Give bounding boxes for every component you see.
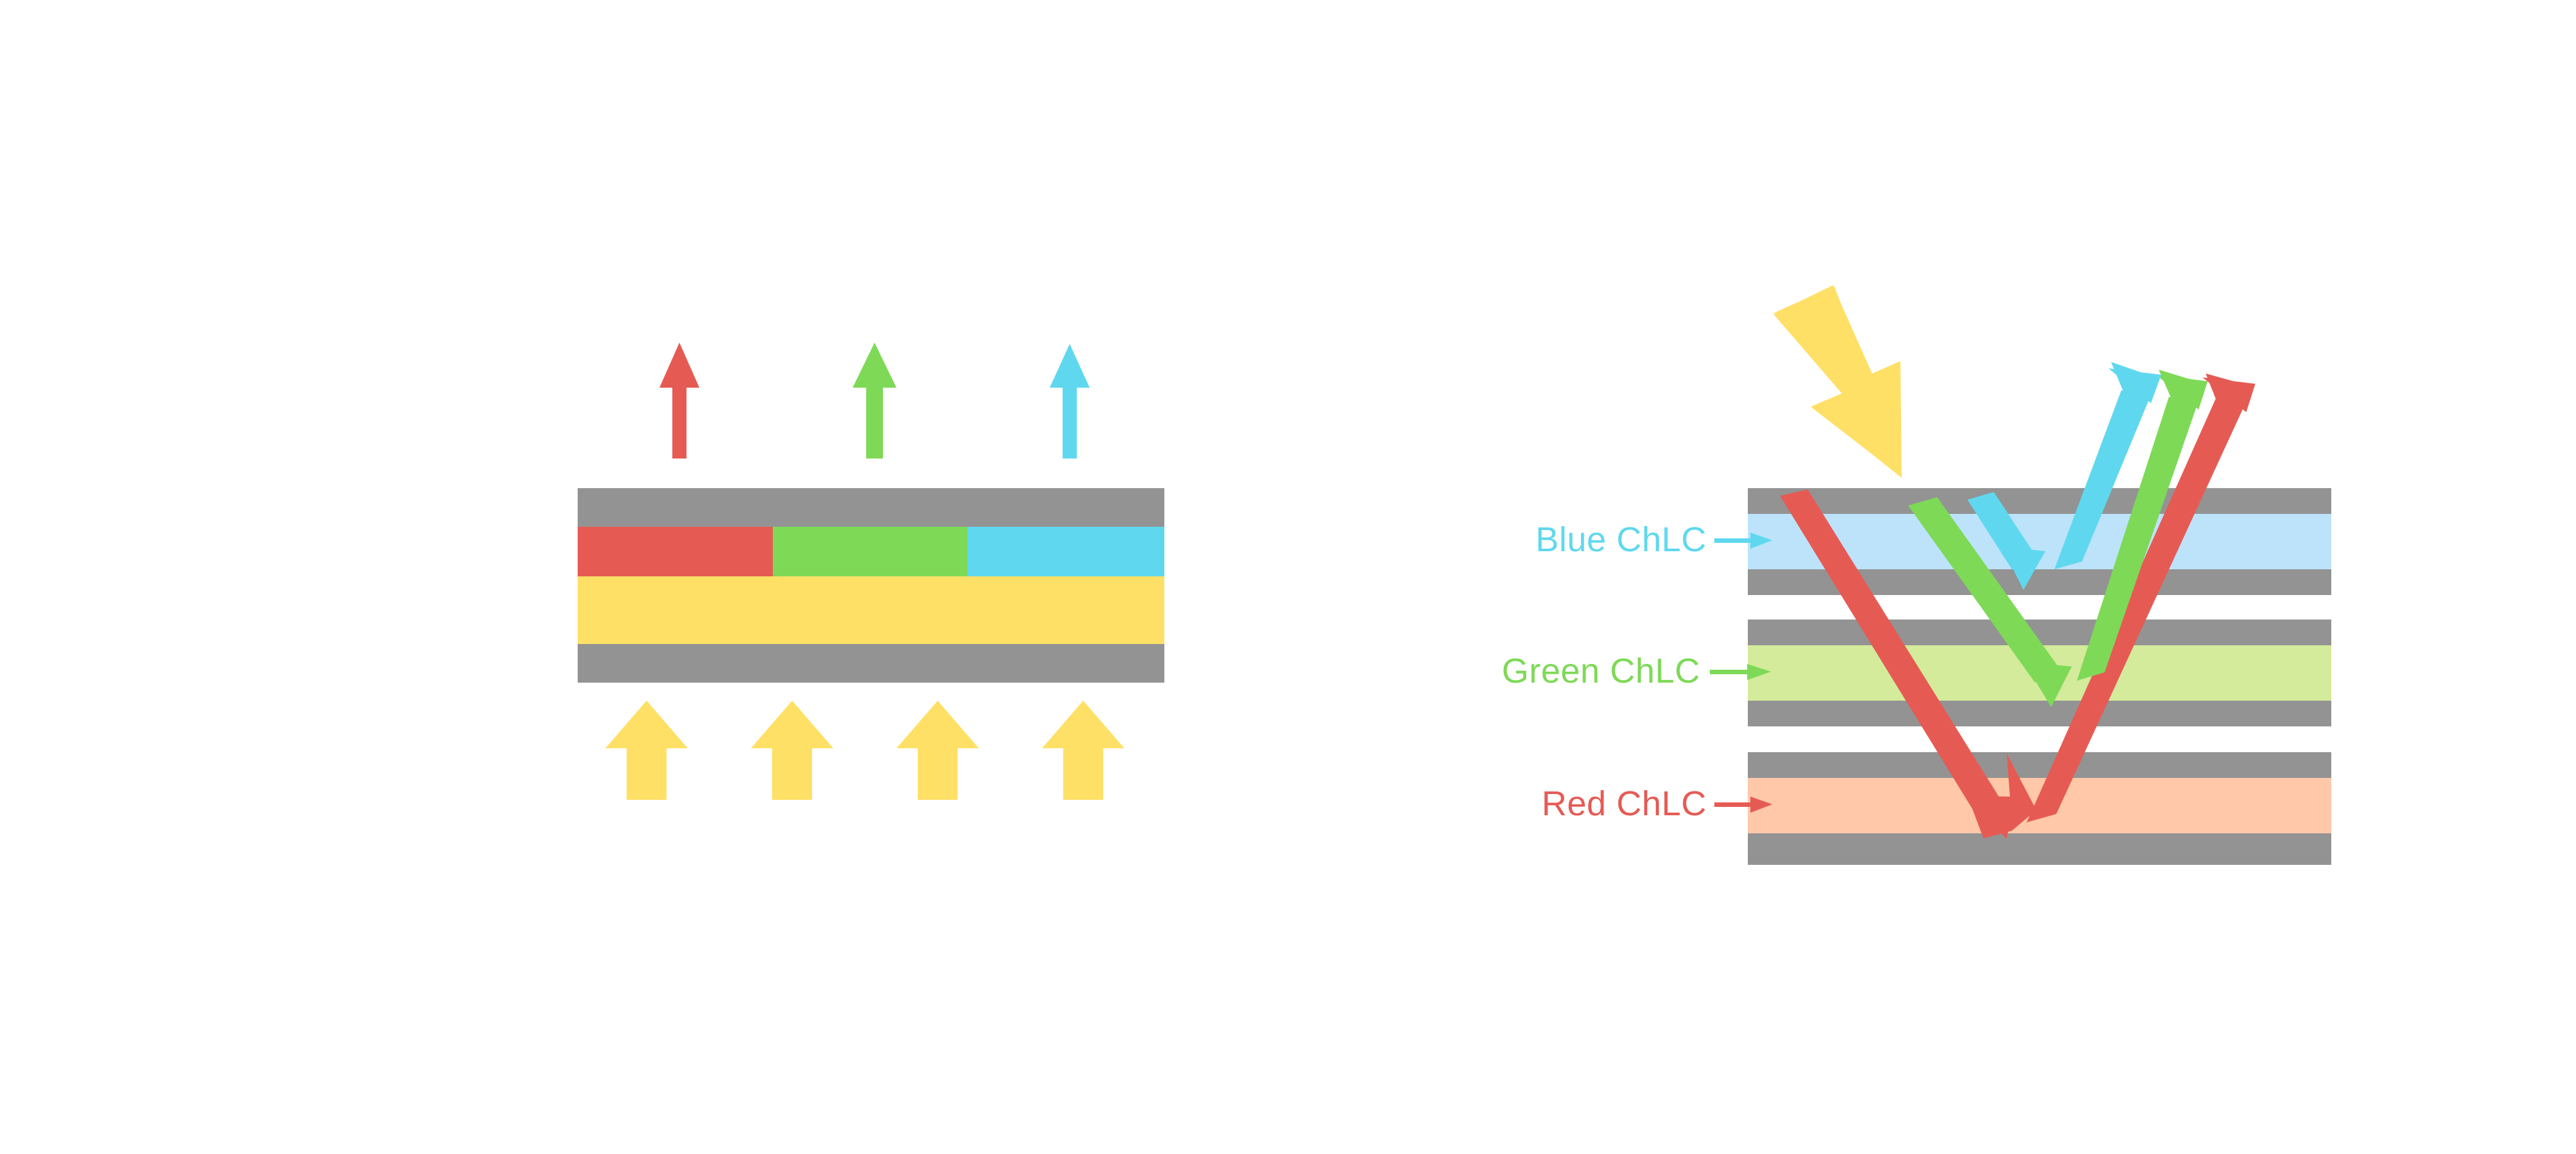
red-chlc-label-group: Red ChLC bbox=[1542, 784, 1772, 823]
diagram-canvas: Blue ChLC Green ChLC Red ChLC bbox=[0, 0, 2576, 1154]
blue-chlc-label-group: Blue ChLC bbox=[1535, 520, 1772, 559]
green-subpixel bbox=[773, 527, 967, 576]
green-chlc-label: Green ChLC bbox=[1502, 652, 1700, 690]
blue-cell-top-substrate bbox=[1748, 488, 2331, 514]
backlight-layer bbox=[578, 576, 1164, 644]
green-chlc-label-group: Green ChLC bbox=[1502, 652, 1771, 690]
left-bottom-substrate bbox=[578, 644, 1164, 683]
incident-arrow-shape bbox=[1774, 285, 1902, 478]
green-emission-arrow bbox=[853, 343, 896, 459]
left-top-substrate bbox=[578, 488, 1164, 527]
red-cell-bottom-substrate bbox=[1748, 833, 2331, 865]
red-emission-arrow bbox=[659, 343, 699, 459]
figure-root: Blue ChLC Green ChLC Red ChLC bbox=[0, 0, 2576, 1154]
red-chlc-label: Red ChLC bbox=[1542, 784, 1707, 823]
backlight-arrow-3 bbox=[896, 701, 979, 800]
red-subpixel bbox=[578, 527, 773, 576]
backlight-arrow-2 bbox=[751, 701, 833, 800]
blue-chlc-label: Blue ChLC bbox=[1535, 520, 1707, 559]
left-panel bbox=[578, 343, 1164, 800]
green-cell-bottom-substrate bbox=[1748, 701, 2331, 726]
right-panel: Blue ChLC Green ChLC Red ChLC bbox=[1502, 285, 2331, 865]
red-cell-top-substrate bbox=[1748, 752, 2331, 778]
cyan-emission-arrow bbox=[1050, 344, 1090, 459]
backlight-arrow-1 bbox=[605, 701, 688, 800]
backlight-arrow-4 bbox=[1042, 701, 1124, 800]
cyan-subpixel bbox=[967, 527, 1164, 576]
